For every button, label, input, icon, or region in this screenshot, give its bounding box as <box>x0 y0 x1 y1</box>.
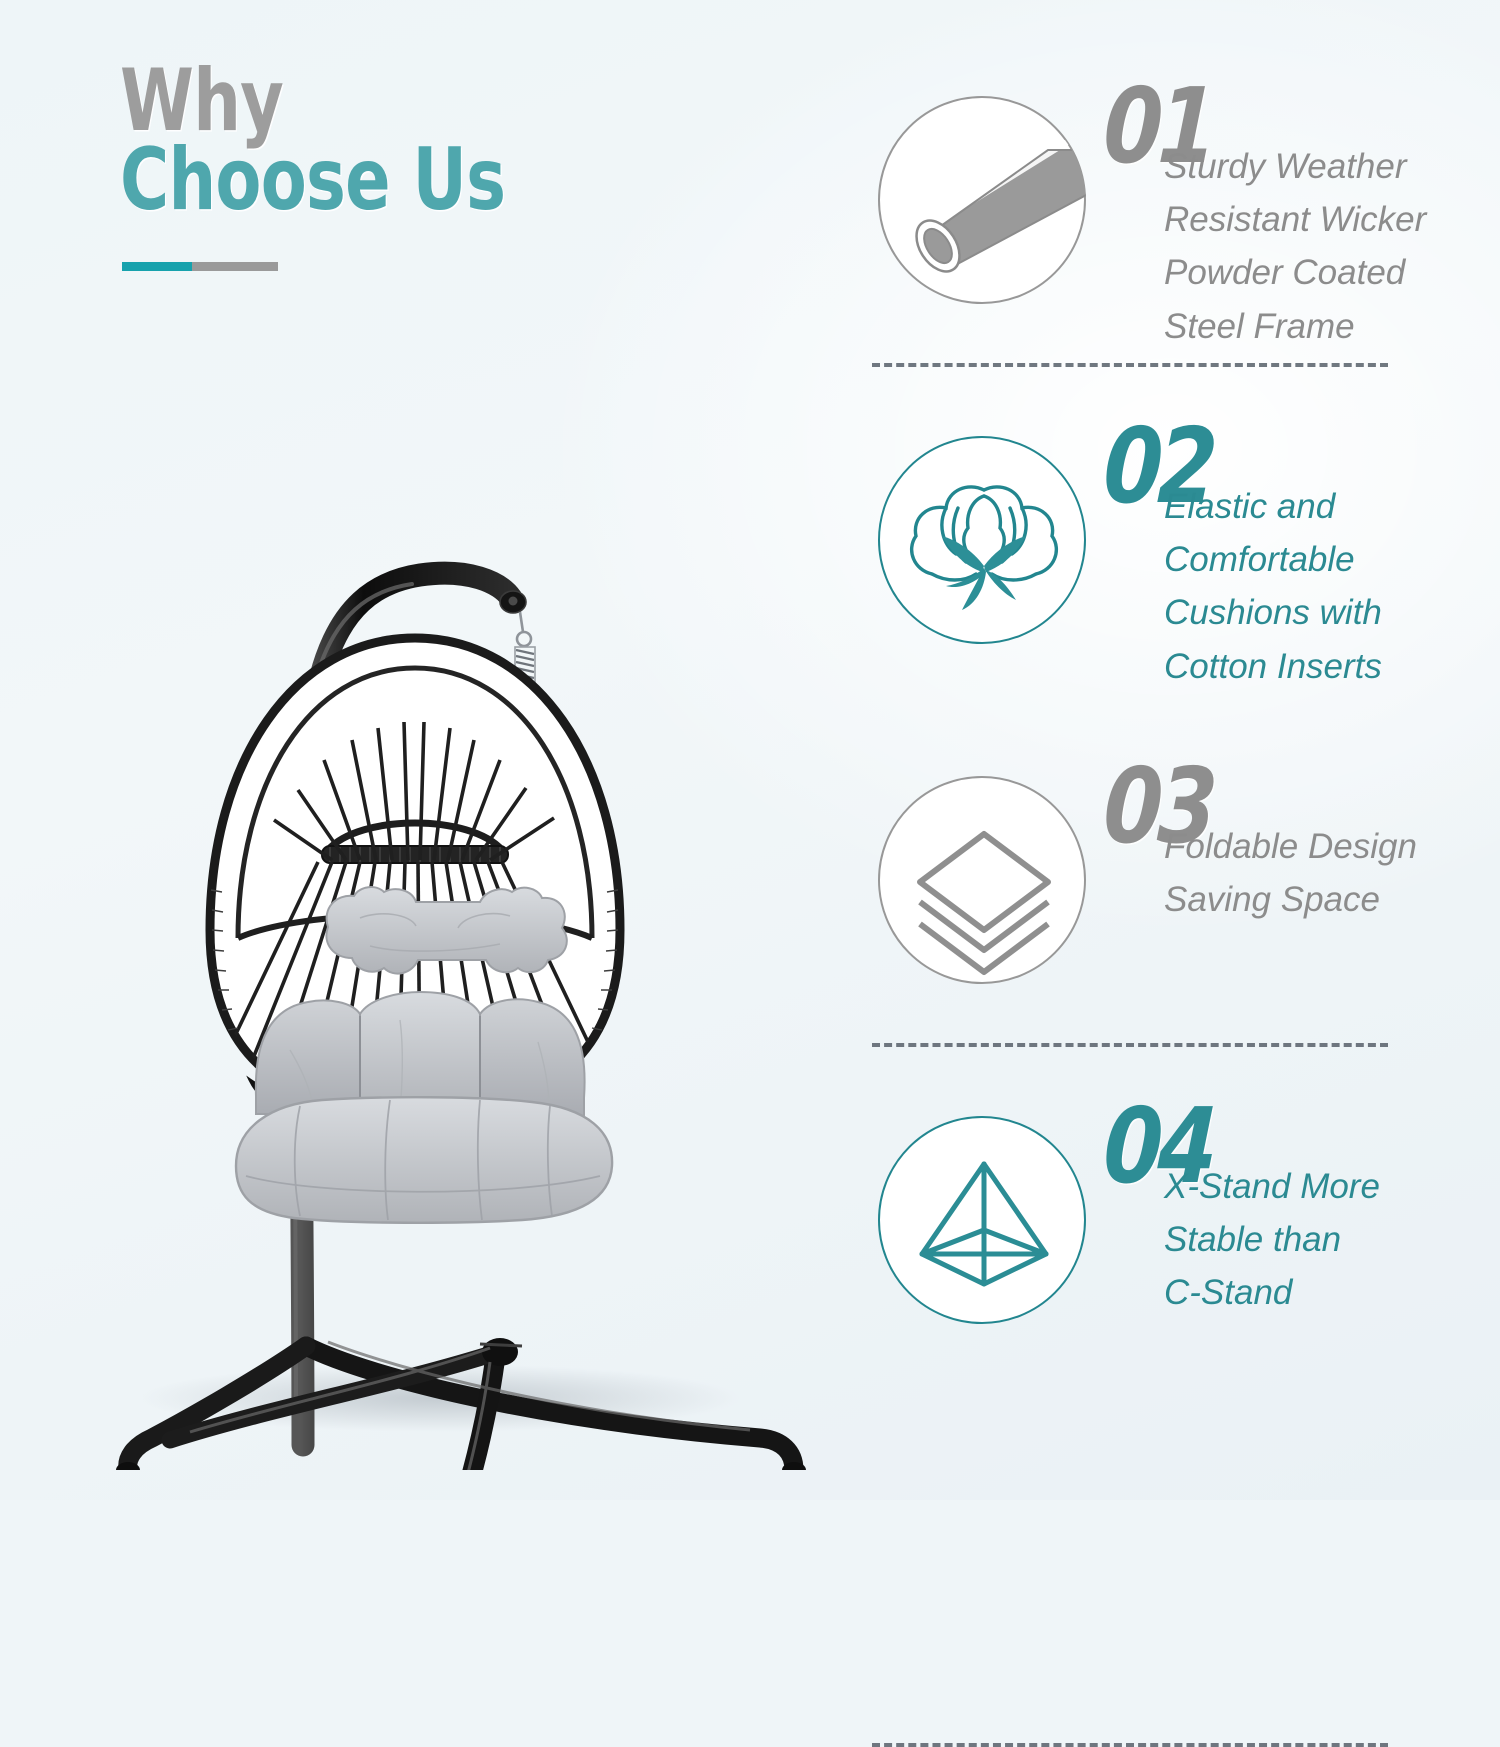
title-underline-gray-segment <box>192 262 278 271</box>
title-underline-teal-segment <box>122 262 192 271</box>
feature-item-03: 03 Foldable Design Saving Space <box>858 746 1418 1086</box>
feature-text-03: Foldable Design Saving Space <box>1164 820 1424 926</box>
feature-text-02: Elastic and Comfortable Cushions with Co… <box>1164 480 1424 693</box>
features-list: 01 Sturdy Weather Resistant Wicker Powde… <box>858 66 1418 1426</box>
title-underline-bar <box>122 262 278 271</box>
feature-icon-circle-03 <box>878 776 1086 984</box>
feature-icon-circle-04 <box>878 1116 1086 1324</box>
pyramid-stand-icon <box>880 1118 1088 1326</box>
tube-icon <box>880 98 1088 306</box>
feature-text-01: Sturdy Weather Resistant Wicker Powder C… <box>1164 140 1424 353</box>
feature-item-02: 02 Elastic and Comfortable Cushions with… <box>858 406 1418 746</box>
feature-divider-1 <box>872 363 1388 367</box>
product-image-hanging-egg-chair <box>60 290 840 1470</box>
layers-icon <box>880 778 1088 986</box>
cotton-boll-icon <box>880 438 1088 646</box>
feature-icon-circle-02 <box>878 436 1086 644</box>
feature-text-04: X-Stand More Stable than C-Stand <box>1164 1160 1424 1320</box>
page-title: Why Choose Us <box>120 62 614 220</box>
infographic-page: Why Choose Us <box>0 0 1500 1500</box>
feature-item-01: 01 Sturdy Weather Resistant Wicker Powde… <box>858 66 1418 406</box>
feature-icon-circle-01 <box>878 96 1086 304</box>
feature-item-04: 04 X-Stand More Stable than C-Stand <box>858 1086 1418 1426</box>
title-line-choose-us: Choose Us <box>120 141 505 220</box>
feature-divider-3 <box>872 1743 1388 1747</box>
